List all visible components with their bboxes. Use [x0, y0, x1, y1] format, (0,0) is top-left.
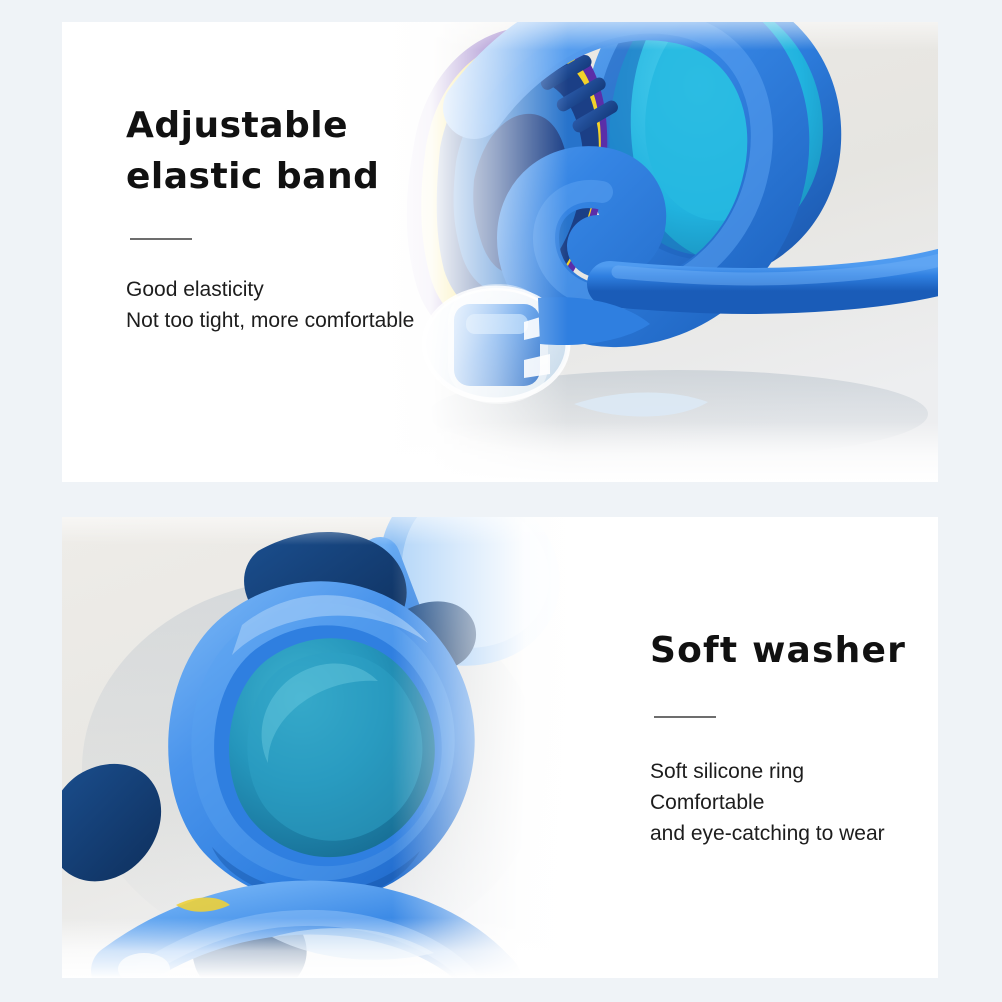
feature-panel-adjustable-elastic-band: Adjustable elastic band Good elasticity …	[62, 22, 938, 482]
washer-divider	[654, 716, 716, 718]
band-subtext: Good elasticity Not too tight, more comf…	[126, 274, 526, 336]
product-feature-board: Adjustable elastic band Good elasticity …	[0, 0, 1002, 1002]
band-headline: Adjustable elastic band	[126, 100, 526, 202]
goggle-eye-cup-lens-photo	[62, 517, 582, 978]
washer-subtext: Soft silicone ring Comfortable and eye-c…	[650, 756, 938, 849]
washer-text-block: Soft washer Soft silicone ring Comfortab…	[650, 625, 938, 849]
washer-headline: Soft washer	[650, 625, 938, 676]
band-text-block: Adjustable elastic band Good elasticity …	[126, 100, 526, 336]
feature-panel-soft-washer: Soft washer Soft silicone ring Comfortab…	[62, 517, 938, 978]
band-divider	[130, 238, 192, 240]
